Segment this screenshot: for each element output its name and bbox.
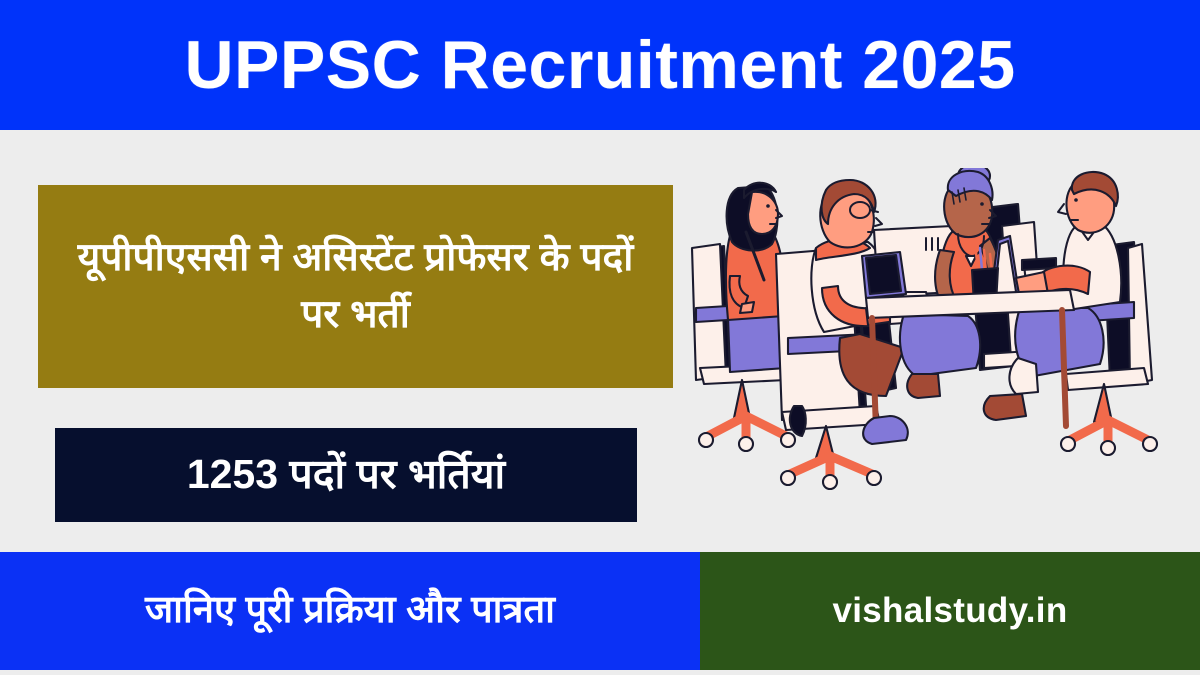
office-meeting-illustration	[690, 168, 1170, 498]
footer-website-panel[interactable]: vishalstudy.in	[700, 552, 1200, 670]
page-title: UPPSC Recruitment 2025	[184, 31, 1015, 99]
footer-bottom-strip	[0, 670, 1200, 675]
vacancy-count-box: 1253 पदों पर भर्तियां	[55, 428, 637, 522]
headline-callout-box: यूपीपीएससी ने असिस्टेंट प्रोफेसर के पदों…	[38, 185, 673, 388]
main-content: यूपीपीएससी ने असिस्टेंट प्रोफेसर के पदों…	[0, 130, 1200, 552]
page-header: UPPSC Recruitment 2025	[0, 0, 1200, 130]
office-meeting-illustration-svg	[690, 168, 1170, 498]
footer-cta-text: जानिए पूरी प्रक्रिया और पात्रता	[145, 588, 555, 634]
website-url-text: vishalstudy.in	[833, 591, 1068, 631]
vacancy-count-text: 1253 पदों पर भर्तियां	[187, 450, 505, 499]
footer-cta-panel: जानिए पूरी प्रक्रिया और पात्रता	[0, 552, 700, 670]
laptop-left	[862, 252, 906, 298]
page-footer: जानिए पूरी प्रक्रिया और पात्रता vishalst…	[0, 552, 1200, 670]
headline-callout-text: यूपीपीएससी ने असिस्टेंट प्रोफेसर के पदों…	[56, 230, 655, 343]
